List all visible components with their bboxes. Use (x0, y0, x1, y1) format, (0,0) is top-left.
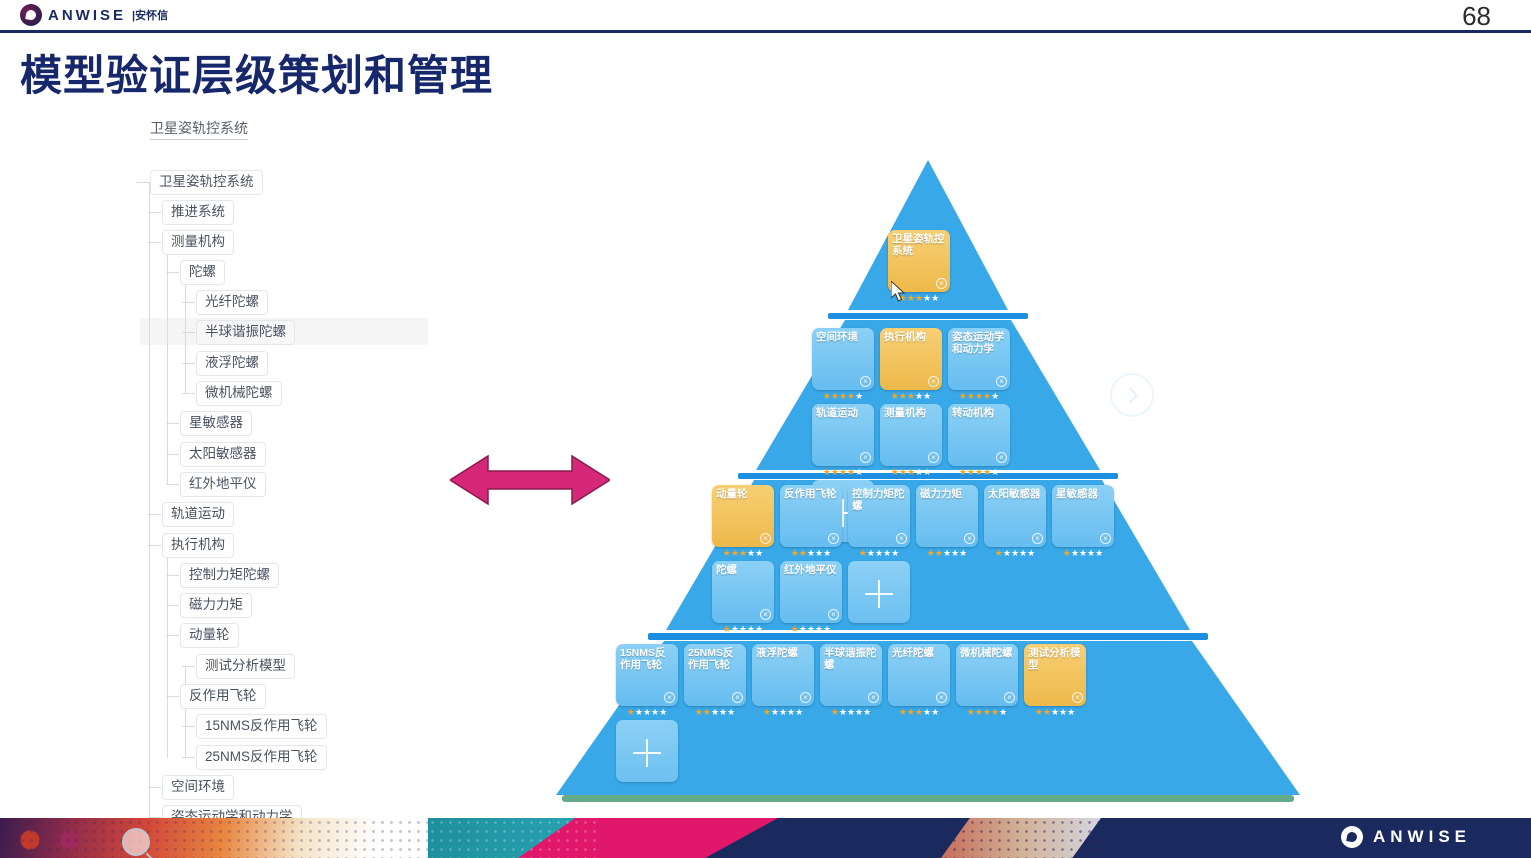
close-icon[interactable]: × (936, 278, 947, 289)
pyramid-card-wrapper: 测试分析模型×★★★★★ (1024, 644, 1086, 706)
pyramid-card[interactable]: 反作用飞轮× (780, 485, 842, 547)
footer-dot-pattern (0, 818, 428, 858)
close-icon[interactable]: × (996, 376, 1007, 387)
pyramid-card-wrapper: 空间环境×★★★★★ (812, 328, 874, 390)
pyramid-card[interactable]: 测试分析模型× (1024, 644, 1086, 706)
pyramid-card-label: 测量机构 (884, 407, 938, 419)
pyramid-card-wrapper: 微机械陀螺×★★★★★ (956, 644, 1018, 706)
pyramid-card-label: 磁力力矩 (920, 488, 974, 500)
star-icon: ★ (923, 293, 931, 303)
star-icon: ★ (815, 548, 823, 558)
tree-node-label: 磁力力矩 (189, 597, 243, 612)
tree-node-label: 动量轮 (189, 627, 230, 642)
tree-node-label: 卫星姿轨控系统 (159, 174, 254, 189)
star-icon: ★ (899, 707, 907, 717)
star-icon: ★ (1071, 548, 1079, 558)
pyramid-card[interactable]: 姿态运动学和动力学× (948, 328, 1010, 390)
tree-node-label: 测量机构 (171, 234, 225, 249)
close-icon[interactable]: × (760, 533, 771, 544)
pyramid-card-label: 半球谐振陀螺 (824, 647, 878, 671)
chevron-right-icon (1123, 387, 1139, 403)
star-icon: ★ (731, 548, 739, 558)
tree-node[interactable]: 半球谐振陀螺 (196, 320, 295, 345)
star-icon: ★ (763, 707, 771, 717)
star-icon: ★ (891, 467, 899, 477)
pyramid-card-wrapper: 红外地平仪×★★★★★ (780, 561, 842, 623)
pyramid-card[interactable]: 星敏感器× (1052, 485, 1114, 547)
star-icon: ★ (991, 707, 999, 717)
rating-stars[interactable]: ★★★★★ (916, 549, 978, 558)
pyramid-card-label: 执行机构 (884, 331, 938, 343)
star-icon: ★ (711, 707, 719, 717)
tree-node[interactable]: 空间环境 (162, 775, 234, 800)
rating-stars[interactable]: ★★★★★ (948, 468, 1010, 477)
star-icon: ★ (923, 391, 931, 401)
tree-node-label: 反作用飞轮 (189, 688, 257, 703)
pyramid-card-label: 控制力矩陀螺 (852, 488, 906, 512)
pyramid-card[interactable]: 测量机构× (880, 404, 942, 466)
close-icon[interactable]: × (1004, 692, 1015, 703)
pyramid-card-wrapper: 磁力力矩×★★★★★ (916, 485, 978, 547)
tree-node[interactable]: 控制力矩陀螺 (180, 563, 279, 588)
pyramid-card-label: 光纤陀螺 (892, 647, 946, 659)
star-icon: ★ (731, 624, 739, 634)
tree-node-label: 控制力矩陀螺 (189, 567, 270, 582)
star-icon: ★ (891, 548, 899, 558)
star-icon: ★ (915, 707, 923, 717)
tree-node[interactable]: 微机械陀螺 (196, 381, 282, 406)
star-icon: ★ (951, 548, 959, 558)
star-icon: ★ (823, 624, 831, 634)
star-icon: ★ (883, 548, 891, 558)
pyramid-card-wrapper: 测量机构×★★★★★ (880, 404, 942, 466)
star-icon: ★ (787, 707, 795, 717)
pyramid-card-wrapper: 控制力矩陀螺×★★★★★ (848, 485, 910, 547)
tree-node[interactable]: 15NMS反作用飞轮 (196, 714, 327, 739)
star-icon: ★ (771, 707, 779, 717)
star-icon: ★ (791, 548, 799, 558)
pyramid-card-wrapper (848, 561, 910, 623)
star-icon: ★ (923, 467, 931, 477)
tree-node[interactable]: 测量机构 (162, 230, 234, 255)
pyramid-card-wrapper: 太阳敏感器×★★★★★ (984, 485, 1046, 547)
close-icon[interactable]: × (964, 533, 975, 544)
star-icon: ★ (703, 707, 711, 717)
star-icon: ★ (867, 548, 875, 558)
close-icon[interactable]: × (860, 376, 871, 387)
star-icon: ★ (907, 707, 915, 717)
pyramid-card-wrapper: 半球谐振陀螺×★★★★★ (820, 644, 882, 706)
star-icon: ★ (967, 391, 975, 401)
pyramid-card[interactable]: 液浮陀螺× (752, 644, 814, 706)
star-icon: ★ (831, 391, 839, 401)
rating-stars[interactable]: ★★★★★ (712, 625, 774, 634)
tree-node[interactable]: 轨道运动 (162, 502, 234, 527)
pyramid-card-wrapper: 15NMS反作用飞轮×★★★★★ (616, 644, 678, 706)
tree-node[interactable]: 卫星姿轨控系统 (150, 170, 263, 195)
footer-dots-right (941, 818, 1101, 858)
footer-bar: ANWISE (428, 818, 1531, 858)
star-icon: ★ (899, 467, 907, 477)
pyramid-card-label: 微机械陀螺 (960, 647, 1014, 659)
pyramid-card[interactable]: 太阳敏感器× (984, 485, 1046, 547)
tree-node-label: 15NMS反作用飞轮 (205, 718, 318, 733)
rating-stars[interactable]: ★★★★★ (820, 708, 882, 717)
star-icon: ★ (823, 467, 831, 477)
star-icon: ★ (907, 391, 915, 401)
star-icon: ★ (807, 624, 815, 634)
pyramid-card[interactable]: 磁力力矩× (916, 485, 978, 547)
tree-heading: 卫星姿轨控系统 (150, 118, 248, 140)
pyramid-card-label: 反作用飞轮 (784, 488, 838, 500)
rating-stars[interactable]: ★★★★★ (1024, 708, 1086, 717)
pyramid-card-label: 液浮陀螺 (756, 647, 810, 659)
rating-stars[interactable]: ★★★★★ (1052, 549, 1114, 558)
pyramid-card-label: 25NMS反作用飞轮 (688, 647, 742, 671)
star-icon: ★ (723, 624, 731, 634)
star-icon: ★ (943, 548, 951, 558)
star-icon: ★ (747, 624, 755, 634)
star-icon: ★ (723, 548, 731, 558)
pyramid-card-label: 星敏感器 (1056, 488, 1110, 500)
star-icon: ★ (967, 707, 975, 717)
star-icon: ★ (799, 624, 807, 634)
star-icon: ★ (959, 391, 967, 401)
tree-node[interactable]: 动量轮 (180, 623, 239, 648)
page-title: 模型验证层级策划和管理 (20, 42, 493, 103)
rating-stars[interactable]: ★★★★★ (780, 625, 842, 634)
star-icon: ★ (831, 467, 839, 477)
star-icon: ★ (855, 391, 863, 401)
close-icon[interactable]: × (1072, 692, 1083, 703)
pyramid-card-label: 动量轮 (716, 488, 770, 500)
close-icon[interactable]: × (928, 452, 939, 463)
tree-node-label: 推进系统 (171, 204, 225, 219)
pyramid-card[interactable]: 陀螺× (712, 561, 774, 623)
anwise-footer-logo-icon (1341, 826, 1363, 848)
star-icon: ★ (891, 391, 899, 401)
pyramid-card-label: 陀螺 (716, 564, 770, 576)
tree-node[interactable]: 液浮陀螺 (196, 351, 268, 376)
star-icon: ★ (1079, 548, 1087, 558)
star-icon: ★ (1035, 707, 1043, 717)
star-icon: ★ (863, 707, 871, 717)
pyramid-card-wrapper: 反作用飞轮×★★★★★ (780, 485, 842, 547)
tree-node[interactable]: 太阳敏感器 (180, 442, 266, 467)
pyramid-card-label: 空间环境 (816, 331, 870, 343)
pyramid-card[interactable]: 光纤陀螺× (888, 644, 950, 706)
rating-stars[interactable]: ★★★★★ (888, 708, 950, 717)
tree-node-label: 液浮陀螺 (205, 355, 259, 370)
star-icon: ★ (991, 467, 999, 477)
star-icon: ★ (967, 467, 975, 477)
rating-stars[interactable]: ★★★★★ (684, 708, 746, 717)
model-tree-panel: 卫星姿轨控系统 卫星姿轨控系统推进系统测量机构陀螺光纤陀螺半球谐振陀螺液浮陀螺微… (0, 108, 430, 833)
pyramid-card-wrapper: 轨道运动×★★★★★ (812, 404, 874, 466)
tree-node-label: 陀螺 (189, 264, 216, 279)
tree-node[interactable]: 测试分析模型 (196, 654, 295, 679)
star-icon: ★ (847, 391, 855, 401)
tree-node-label: 光纤陀螺 (205, 294, 259, 309)
tree-node-label: 半球谐振陀螺 (205, 324, 286, 339)
star-icon: ★ (915, 391, 923, 401)
pyramid-card-wrapper: 动量轮×★★★★★ (712, 485, 774, 547)
pyramid-card-wrapper: 25NMS反作用飞轮×★★★★★ (684, 644, 746, 706)
star-icon: ★ (975, 707, 983, 717)
star-icon: ★ (739, 548, 747, 558)
pyramid-card-label: 15NMS反作用飞轮 (620, 647, 674, 671)
close-icon[interactable]: × (1100, 533, 1111, 544)
pyramid-card-label: 转动机构 (952, 407, 1006, 419)
star-icon: ★ (799, 548, 807, 558)
close-icon[interactable]: × (1032, 533, 1043, 544)
star-icon: ★ (907, 293, 915, 303)
tree-node[interactable]: 25NMS反作用飞轮 (196, 745, 327, 770)
star-icon: ★ (935, 548, 943, 558)
tree-node-label: 星敏感器 (189, 415, 243, 430)
tree-node[interactable]: 光纤陀螺 (196, 290, 268, 315)
star-icon: ★ (1063, 548, 1071, 558)
star-icon: ★ (983, 391, 991, 401)
star-icon: ★ (859, 548, 867, 558)
pyramid-card-wrapper: 星敏感器×★★★★★ (1052, 485, 1114, 547)
star-icon: ★ (991, 391, 999, 401)
star-icon: ★ (995, 548, 1003, 558)
zoom-search-icon[interactable] (122, 828, 150, 856)
pyramid-tier-4-cards: 15NMS反作用飞轮×★★★★★25NMS反作用飞轮×★★★★★液浮陀螺×★★★… (616, 644, 1116, 782)
star-icon: ★ (831, 707, 839, 717)
star-icon: ★ (999, 707, 1007, 717)
tree-node[interactable]: 红外地平仪 (180, 472, 266, 497)
star-icon: ★ (739, 624, 747, 634)
tree-node[interactable]: 陀螺 (180, 260, 225, 285)
star-icon: ★ (931, 707, 939, 717)
pyramid-card-wrapper: 液浮陀螺×★★★★★ (752, 644, 814, 706)
add-card-button[interactable] (848, 561, 910, 623)
pyramid-card[interactable]: 25NMS反作用飞轮× (684, 644, 746, 706)
star-icon: ★ (839, 467, 847, 477)
star-icon: ★ (1027, 548, 1035, 558)
footer-brand-name: ANWISE (1373, 827, 1471, 847)
star-icon: ★ (927, 548, 935, 558)
close-icon[interactable]: × (860, 452, 871, 463)
star-icon: ★ (791, 624, 799, 634)
pyramid-card[interactable]: 空间环境× (812, 328, 874, 390)
rating-stars[interactable]: ★★★★★ (812, 468, 874, 477)
rating-stars[interactable]: ★★★★★ (956, 708, 1018, 717)
tree-node-label: 空间环境 (171, 779, 225, 794)
star-icon: ★ (915, 467, 923, 477)
star-icon: ★ (719, 707, 727, 717)
star-icon: ★ (815, 624, 823, 634)
star-icon: ★ (983, 467, 991, 477)
star-icon: ★ (1067, 707, 1075, 717)
anwise-logo-icon (20, 4, 42, 26)
pyramid-card-wrapper: 转动机构×★★★★★ (948, 404, 1010, 466)
brand-logo: ANWISE |安怀信 (20, 4, 168, 26)
pyramid-card-label: 姿态运动学和动力学 (952, 331, 1006, 355)
star-icon: ★ (823, 548, 831, 558)
add-card-button[interactable] (616, 720, 678, 782)
star-icon: ★ (899, 391, 907, 401)
footer-dots-left (428, 818, 598, 858)
star-icon: ★ (931, 293, 939, 303)
brand-name-cn: |安怀信 (132, 7, 168, 23)
star-icon: ★ (635, 707, 643, 717)
pyramid-card-label: 测试分析模型 (1028, 647, 1082, 671)
pyramid-card-label: 卫星姿轨控系统 (892, 233, 946, 257)
rating-stars[interactable]: ★★★★★ (616, 708, 678, 717)
star-icon: ★ (651, 707, 659, 717)
pyramid-card-label: 红外地平仪 (784, 564, 838, 576)
tree-node-label: 25NMS反作用飞轮 (205, 749, 318, 764)
rating-stars[interactable]: ★★★★★ (752, 708, 814, 717)
pyramid-card-wrapper: 姿态运动学和动力学×★★★★★ (948, 328, 1010, 390)
star-icon: ★ (847, 467, 855, 477)
pyramid-tier-3-cards: 动量轮×★★★★★反作用飞轮×★★★★★控制力矩陀螺×★★★★★磁力力矩×★★★… (712, 485, 1138, 633)
star-icon: ★ (727, 707, 735, 717)
mouse-cursor (891, 281, 907, 305)
tree-node[interactable]: 磁力力矩 (180, 593, 252, 618)
rating-stars[interactable]: ★★★★★ (712, 549, 774, 558)
tree-node-label: 执行机构 (171, 537, 225, 552)
pyramid-card[interactable]: 动量轮× (712, 485, 774, 547)
star-icon: ★ (1095, 548, 1103, 558)
close-icon[interactable]: × (996, 452, 1007, 463)
star-icon: ★ (839, 391, 847, 401)
rating-stars[interactable]: ★★★★★ (880, 468, 942, 477)
star-icon: ★ (839, 707, 847, 717)
star-icon: ★ (847, 707, 855, 717)
rating-stars[interactable]: ★★★★★ (984, 549, 1046, 558)
close-icon[interactable]: × (800, 692, 811, 703)
star-icon: ★ (1059, 707, 1067, 717)
star-icon: ★ (659, 707, 667, 717)
star-icon: ★ (959, 467, 967, 477)
star-icon: ★ (907, 467, 915, 477)
pyramid-card-label: 轨道运动 (816, 407, 870, 419)
star-icon: ★ (1043, 707, 1051, 717)
close-icon[interactable]: × (664, 692, 675, 703)
star-icon: ★ (643, 707, 651, 717)
star-icon: ★ (1019, 548, 1027, 558)
rating-stars[interactable]: ★★★★★ (848, 549, 910, 558)
pyramid-card[interactable]: 红外地平仪× (780, 561, 842, 623)
tree-node[interactable]: 星敏感器 (180, 411, 252, 436)
page-number: 68 (1462, 1, 1491, 32)
tree-node-label: 轨道运动 (171, 506, 225, 521)
pyramid-card-wrapper: 陀螺×★★★★★ (712, 561, 774, 623)
star-icon: ★ (1051, 707, 1059, 717)
star-icon: ★ (1003, 548, 1011, 558)
header-divider (0, 30, 1531, 33)
star-icon: ★ (915, 293, 923, 303)
star-icon: ★ (983, 707, 991, 717)
tree-node[interactable]: 推进系统 (162, 200, 234, 225)
pyramid-card[interactable]: 轨道运动× (812, 404, 874, 466)
pyramid-card[interactable]: 转动机构× (948, 404, 1010, 466)
tree-node[interactable]: 反作用飞轮 (180, 684, 266, 709)
star-icon: ★ (807, 548, 815, 558)
rating-stars[interactable]: ★★★★★ (780, 549, 842, 558)
star-icon: ★ (855, 707, 863, 717)
star-icon: ★ (1087, 548, 1095, 558)
star-icon: ★ (695, 707, 703, 717)
star-icon: ★ (1011, 548, 1019, 558)
pyramid-card[interactable]: 控制力矩陀螺× (848, 485, 910, 547)
plus-icon (865, 580, 893, 608)
tree-node-label: 红外地平仪 (189, 476, 257, 491)
pyramid-diagram: 卫星姿轨控系统×★★★★★ 空间环境×★★★★★执行机构×★★★★★姿态运动学和… (540, 150, 1330, 820)
pyramid-card-wrapper: 光纤陀螺×★★★★★ (888, 644, 950, 706)
pyramid-card[interactable]: 执行机构× (880, 328, 942, 390)
star-icon: ★ (779, 707, 787, 717)
close-icon[interactable]: × (928, 376, 939, 387)
pyramid-card-wrapper (616, 720, 678, 782)
star-icon: ★ (975, 467, 983, 477)
star-icon: ★ (823, 391, 831, 401)
star-icon: ★ (755, 624, 763, 634)
pyramid-card-wrapper: 执行机构×★★★★★ (880, 328, 942, 390)
rating-stars[interactable]: ★★★★★ (812, 392, 874, 401)
star-icon: ★ (959, 548, 967, 558)
pyramid-card[interactable]: 微机械陀螺× (956, 644, 1018, 706)
close-icon[interactable]: × (936, 692, 947, 703)
plus-icon (633, 739, 661, 767)
tree-node-label: 太阳敏感器 (189, 446, 257, 461)
close-icon[interactable]: × (760, 609, 771, 620)
rating-stars[interactable]: ★★★★★ (880, 392, 942, 401)
star-icon: ★ (923, 707, 931, 717)
close-icon[interactable]: × (896, 533, 907, 544)
star-icon: ★ (975, 391, 983, 401)
star-icon: ★ (755, 548, 763, 558)
footer-logo: ANWISE (1341, 826, 1471, 848)
pyramid-card[interactable]: 半球谐振陀螺× (820, 644, 882, 706)
close-icon[interactable]: × (828, 533, 839, 544)
footer-decoration-left (0, 818, 428, 858)
close-icon[interactable]: × (868, 692, 879, 703)
star-icon: ★ (855, 467, 863, 477)
close-icon[interactable]: × (732, 692, 743, 703)
tree-node-label: 测试分析模型 (205, 658, 286, 673)
pyramid-card[interactable]: 15NMS反作用飞轮× (616, 644, 678, 706)
star-icon: ★ (875, 548, 883, 558)
close-icon[interactable]: × (828, 609, 839, 620)
star-icon: ★ (795, 707, 803, 717)
top-bar: ANWISE |安怀信 68 (0, 0, 1531, 30)
tree-node-label: 微机械陀螺 (205, 385, 273, 400)
brand-name: ANWISE (48, 7, 126, 24)
star-icon: ★ (747, 548, 755, 558)
next-page-button[interactable] (1110, 373, 1154, 417)
pyramid-card-label: 太阳敏感器 (988, 488, 1042, 500)
star-icon: ★ (627, 707, 635, 717)
tree-node[interactable]: 执行机构 (162, 533, 234, 558)
rating-stars[interactable]: ★★★★★ (948, 392, 1010, 401)
